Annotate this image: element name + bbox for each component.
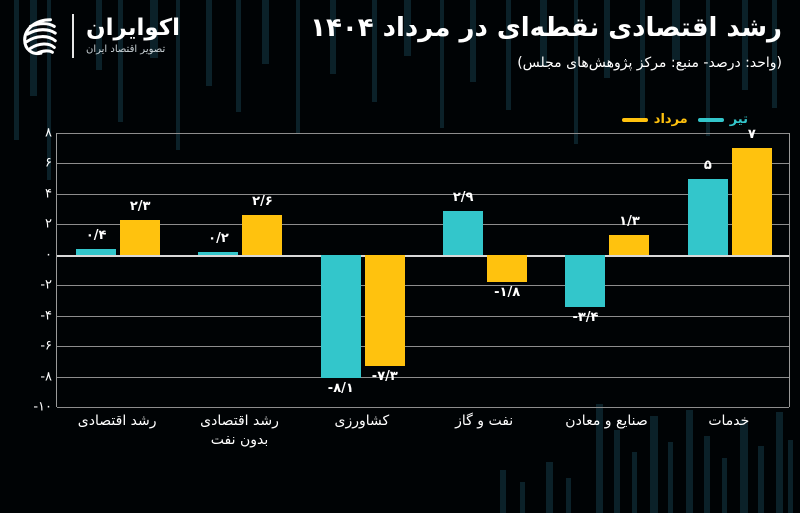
bar-value-label: ۰/۴ <box>66 228 126 243</box>
plot-area: ۰/۴۲/۳۰/۲۲/۶-۸/۱-۷/۳۲/۹-۱/۸-۳/۴۱/۳۵۷ <box>56 133 790 407</box>
bar-value-label: ۲/۳ <box>110 199 170 214</box>
swoosh-globe-icon <box>18 14 60 58</box>
bar-group: ۵۷ <box>669 133 791 407</box>
x-axis-category-line: خدمات <box>669 412 789 431</box>
chart-legend: تیرمرداد <box>622 112 748 127</box>
y-axis-tick-label: ۴ <box>10 186 52 201</box>
brand-divider <box>72 14 74 58</box>
x-axis-category-label: نفت و گاز <box>424 412 544 431</box>
legend-label: تیر <box>730 112 748 127</box>
bar-value-label: ۵ <box>678 158 738 173</box>
x-axis-category-line: صنایع و معادن <box>547 412 667 431</box>
bar-value-label: ۲/۹ <box>433 190 493 205</box>
gridline <box>57 407 789 408</box>
y-axis-tick-label: -۴ <box>10 308 52 323</box>
x-axis-category-line: کشاورزی <box>302 412 422 431</box>
legend-item-tir[interactable]: تیر <box>698 112 748 127</box>
y-axis-tick-label: -۸ <box>10 369 52 384</box>
bar-group: ۲/۹-۱/۸ <box>424 133 546 407</box>
bar-tir[interactable] <box>688 179 728 255</box>
legend-swatch-icon <box>622 118 648 122</box>
y-axis-tick-label: -۱۰ <box>10 400 52 415</box>
bar-tir[interactable] <box>565 255 605 307</box>
x-axis-category-label: خدمات <box>669 412 789 431</box>
bar-tir[interactable] <box>443 211 483 255</box>
bar-tir[interactable] <box>321 255 361 378</box>
x-axis-labels: رشد اقتصادیرشد اقتصادیبدون نفتکشاورزینفت… <box>56 412 790 472</box>
bars-layer: ۰/۴۲/۳۰/۲۲/۶-۸/۱-۷/۳۲/۹-۱/۸-۳/۴۱/۳۵۷ <box>57 133 789 407</box>
x-axis-category-line: نفت و گاز <box>424 412 544 431</box>
y-axis-tick-label: -۲ <box>10 278 52 293</box>
bar-mordad[interactable] <box>487 255 527 282</box>
x-axis-category-label: رشد اقتصادیبدون نفت <box>180 412 300 450</box>
chart-header: اکوایران تصویر اقتصاد ایران رشد اقتصادی … <box>0 0 800 104</box>
y-axis-tick-label: -۶ <box>10 339 52 354</box>
legend-item-mordad[interactable]: مرداد <box>622 112 688 127</box>
x-axis-category-label: رشد اقتصادی <box>57 412 177 431</box>
bar-group: -۳/۴۱/۳ <box>546 133 668 407</box>
y-axis-tick-label: ۲ <box>10 217 52 232</box>
x-axis-category-line: رشد اقتصادی <box>180 412 300 431</box>
bar-tir[interactable] <box>76 249 116 255</box>
bar-mordad[interactable] <box>365 255 405 366</box>
x-axis-category-line: بدون نفت <box>180 431 300 450</box>
bar-value-label: ۷ <box>722 127 782 142</box>
bar-value-label: ۰/۲ <box>188 231 248 246</box>
x-axis-category-label: کشاورزی <box>302 412 422 431</box>
bar-value-label: ۲/۶ <box>232 194 292 209</box>
y-axis-tick-label: ۸ <box>10 126 52 141</box>
bar-group: ۰/۲۲/۶ <box>179 133 301 407</box>
x-axis-category-label: صنایع و معادن <box>547 412 667 431</box>
bar-value-label: -۳/۴ <box>555 310 615 325</box>
brand-text: اکوایران تصویر اقتصاد ایران <box>86 17 180 55</box>
bar-mordad[interactable] <box>732 148 772 255</box>
bar-mordad[interactable] <box>609 235 649 255</box>
y-axis-tick-label: ۶ <box>10 156 52 171</box>
bar-group: -۸/۱-۷/۳ <box>302 133 424 407</box>
bar-tir[interactable] <box>198 252 238 255</box>
x-axis-category-line: رشد اقتصادی <box>57 412 177 431</box>
chart-subtitle: (واحد: درصد- منبع: مرکز پژوهش‌های مجلس) <box>310 55 782 71</box>
legend-swatch-icon <box>698 118 724 122</box>
bar-group: ۰/۴۲/۳ <box>57 133 179 407</box>
y-axis-tick-label: ۰ <box>10 247 52 262</box>
brand-name: اکوایران <box>86 17 180 40</box>
brand-tagline: تصویر اقتصاد ایران <box>86 45 165 55</box>
bar-mordad[interactable] <box>242 215 282 255</box>
bar-mordad[interactable] <box>120 220 160 255</box>
bar-value-label: -۷/۳ <box>355 369 415 384</box>
brand-logo-block: اکوایران تصویر اقتصاد ایران <box>18 14 180 58</box>
bar-value-label: ۱/۳ <box>599 214 659 229</box>
bar-value-label: -۱/۸ <box>477 285 537 300</box>
page-title: رشد اقتصادی نقطه‌ای در مرداد ۱۴۰۴ <box>310 12 782 45</box>
legend-label: مرداد <box>654 112 688 127</box>
title-block: رشد اقتصادی نقطه‌ای در مرداد ۱۴۰۴ (واحد:… <box>310 12 782 71</box>
